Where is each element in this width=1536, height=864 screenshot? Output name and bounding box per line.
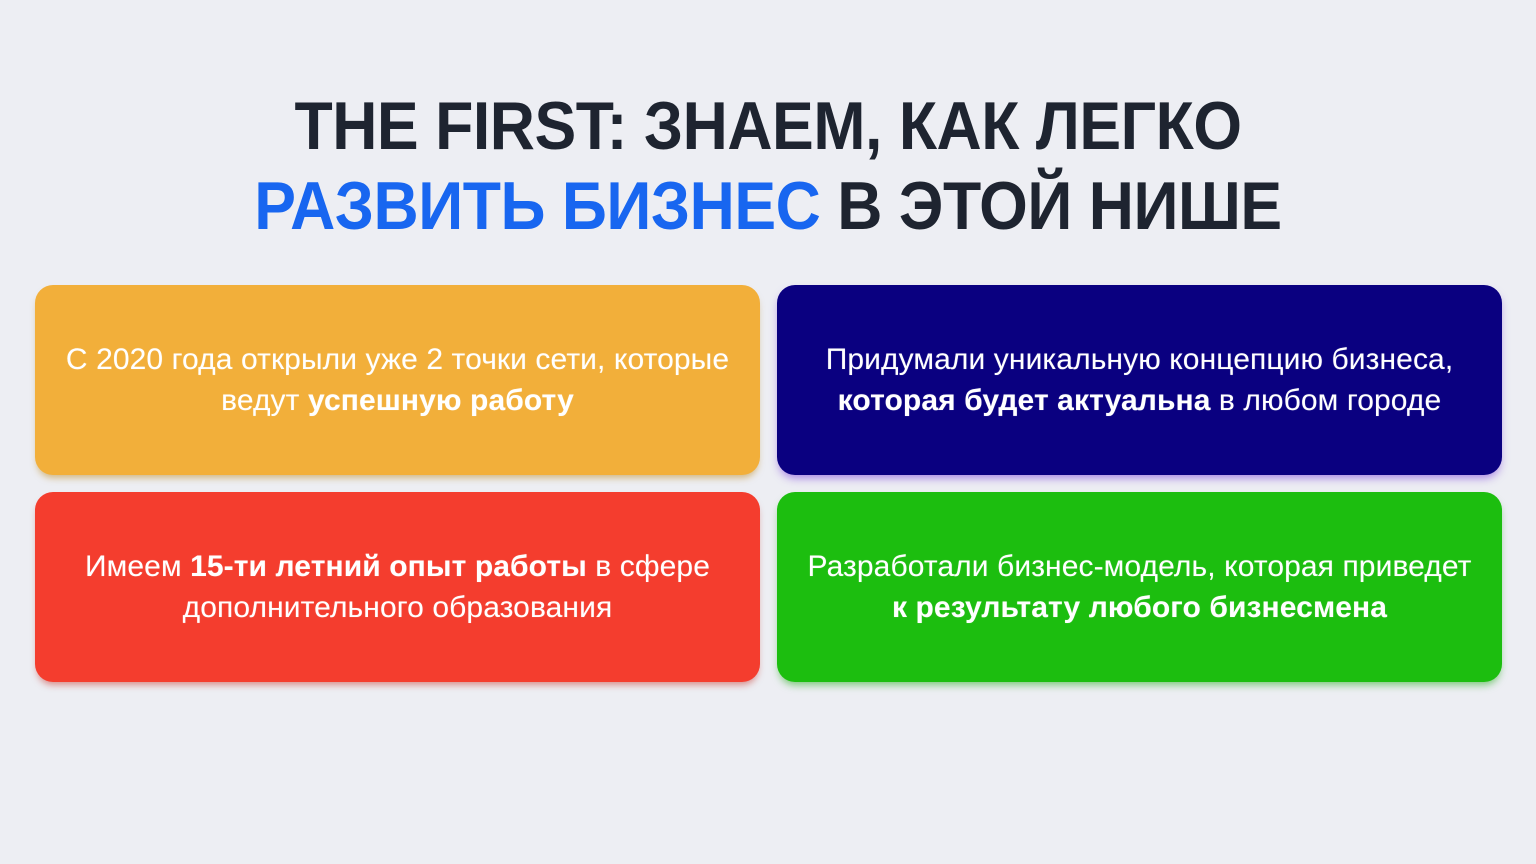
title-line-2: РАЗВИТЬ БИЗНЕС В ЭТОЙ НИШЕ — [61, 166, 1474, 246]
benefit-card-text: С 2020 года открыли уже 2 точки сети, ко… — [61, 339, 734, 421]
card-text-normal-b: в любом городе — [1211, 384, 1442, 417]
benefit-card-experience-2020[interactable]: С 2020 года открыли уже 2 точки сети, ко… — [35, 285, 760, 475]
card-text-bold: успешную работу — [308, 384, 574, 417]
card-text-bold: которая будет актуальна — [838, 384, 1211, 417]
benefit-card-business-model[interactable]: Разработали бизнес-модель, которая приве… — [777, 492, 1502, 682]
page-title: THE FIRST: ЗНАЕМ, КАК ЛЕГКО РАЗВИТЬ БИЗН… — [0, 86, 1536, 246]
title-line-2-suffix: В ЭТОЙ НИШЕ — [820, 168, 1281, 244]
benefit-card-text: Придумали уникальную концепцию бизнеса, … — [803, 339, 1476, 421]
benefit-card-text: Имеем 15-ти летний опыт работы в сфере д… — [61, 546, 734, 628]
card-text-normal-a: Разработали бизнес-модель, которая приве… — [807, 550, 1471, 583]
benefit-card-text: Разработали бизнес-модель, которая приве… — [803, 546, 1476, 628]
card-text-normal-a: Придумали уникальную концепцию бизнеса, — [826, 343, 1454, 376]
card-text-bold: к результату любого бизнесмена — [892, 591, 1387, 624]
card-text-normal-a: Имеем — [85, 550, 190, 583]
card-text-bold: 15-ти летний опыт работы — [190, 550, 587, 583]
title-accent-text: РАЗВИТЬ БИЗНЕС — [254, 168, 820, 244]
benefit-card-15-years[interactable]: Имеем 15-ти летний опыт работы в сфере д… — [35, 492, 760, 682]
benefit-card-grid: С 2020 года открыли уже 2 точки сети, ко… — [35, 285, 1502, 682]
slide-root: THE FIRST: ЗНАЕМ, КАК ЛЕГКО РАЗВИТЬ БИЗН… — [0, 0, 1536, 864]
title-line-1: THE FIRST: ЗНАЕМ, КАК ЛЕГКО — [61, 86, 1474, 166]
benefit-card-unique-concept[interactable]: Придумали уникальную концепцию бизнеса, … — [777, 285, 1502, 475]
